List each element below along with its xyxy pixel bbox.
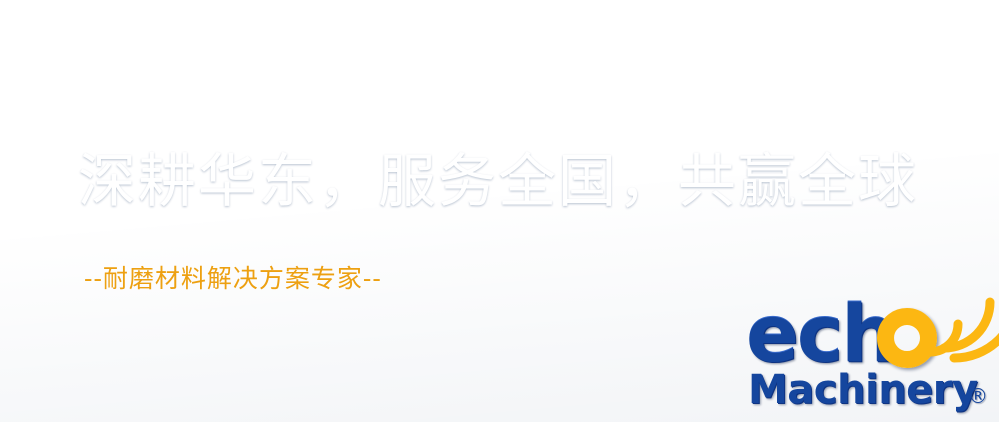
logo-registered-trademark: ® [968,384,988,408]
banner-subtitle: --耐磨材料解决方案专家-- [84,266,382,291]
echo-machinery-logo: ech Machinery ® [746,296,999,422]
hero-banner: 深耕华东，服务全国，共赢全球 --耐磨材料解决方案专家-- ech Machin… [0,0,999,422]
logo-wordmark: ech [746,296,895,374]
logo-subtext-machinery: Machinery [748,370,978,410]
banner-headline: 深耕华东，服务全国，共赢全球 [78,152,918,210]
signal-wave-icon [928,292,999,370]
